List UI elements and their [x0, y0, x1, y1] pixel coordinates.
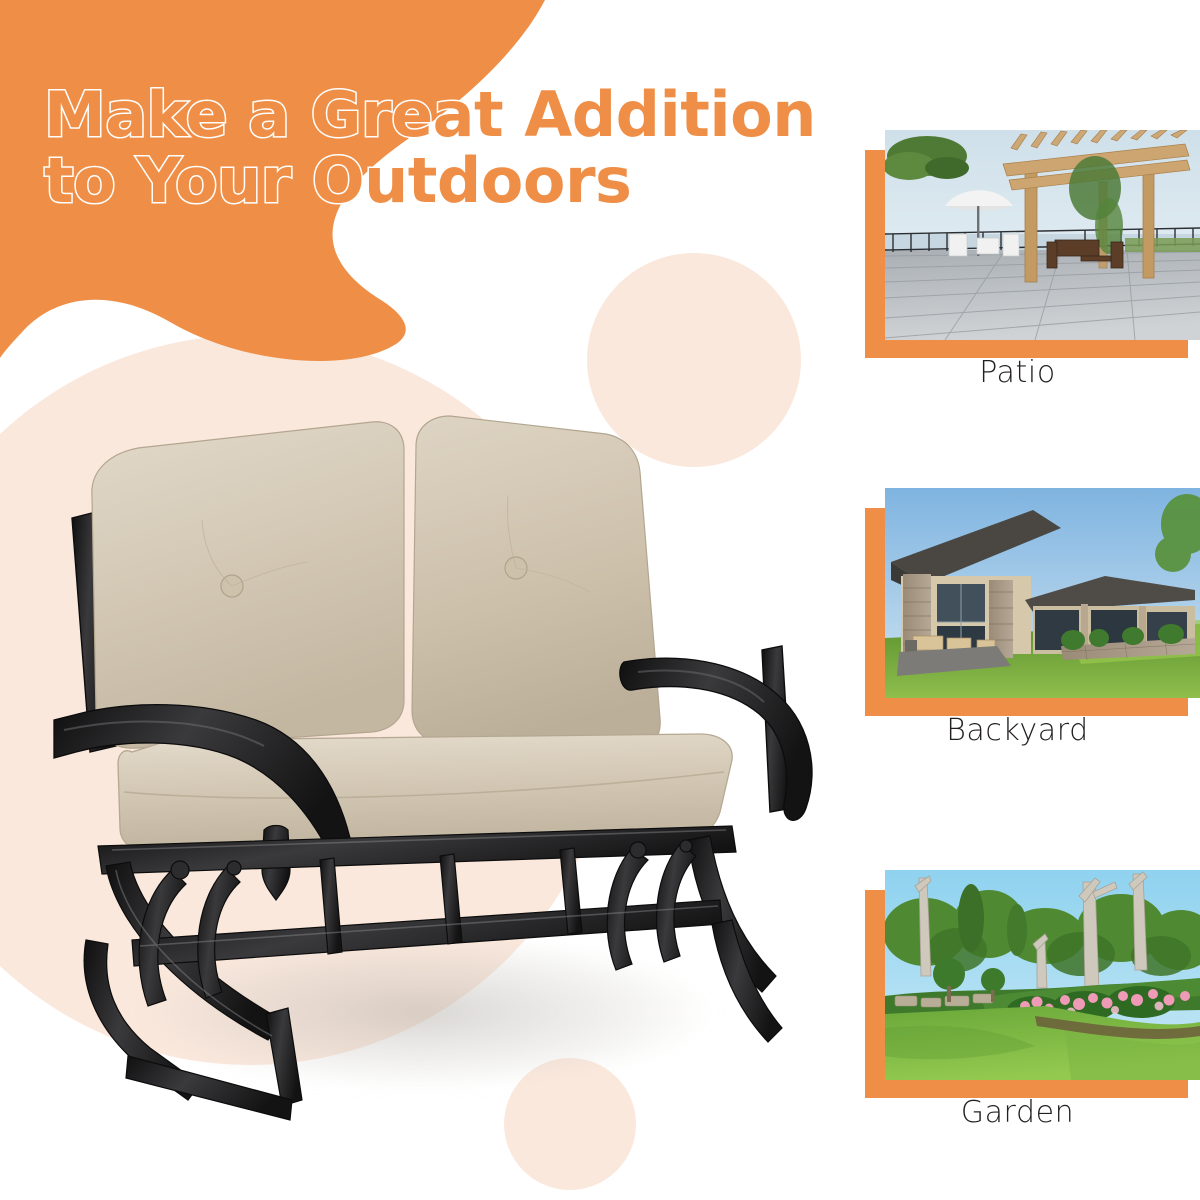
backrest-cushion-right [412, 416, 660, 752]
scene-thumbnail-column: Patio [855, 100, 1200, 1190]
thumbnail-photo-backyard [885, 488, 1200, 698]
headline-line-1: Make a Great Addition [44, 82, 804, 148]
thumbnail-label-backyard: Backyard [855, 713, 1180, 748]
poster-canvas: Make a Great Addition to Your Outdoors [0, 0, 1200, 1200]
product-image-glider-loveseat [20, 400, 850, 1190]
headline-line-2: to Your Outdoors [44, 148, 804, 214]
thumbnail-label-garden: Garden [855, 1095, 1180, 1130]
page-title: Make a Great Addition to Your Outdoors [44, 82, 804, 213]
thumbnail-photo-patio [885, 130, 1200, 340]
thumbnail-card-backyard[interactable]: Backyard [855, 458, 1200, 778]
tree [885, 136, 969, 180]
thumbnail-card-patio[interactable]: Patio [855, 100, 1200, 420]
thumbnail-label-patio: Patio [855, 355, 1180, 390]
thumbnail-card-garden[interactable]: Garden [855, 840, 1200, 1160]
thumbnail-photo-garden [885, 870, 1200, 1080]
backrest-cushion-left [92, 422, 404, 748]
